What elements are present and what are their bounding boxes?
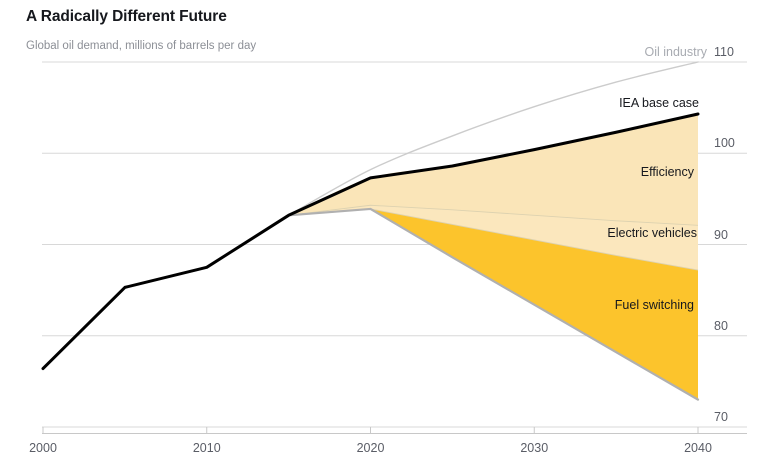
x-axis-tick-2020: 2020: [357, 441, 385, 455]
y-axis-tick-70: 70: [714, 410, 728, 424]
y-axis-tick-80: 80: [714, 319, 728, 333]
y-axis-tick-100: 100: [714, 136, 735, 150]
y-axis-tick-110: 110: [714, 45, 734, 59]
series-label-iea-base-case: IEA base case: [619, 96, 699, 110]
chart-container: A Radically Different Future Global oil …: [0, 0, 768, 470]
x-axis-tick-2000: 2000: [29, 441, 57, 455]
y-axis-tick-90: 90: [714, 228, 728, 242]
series-label-oil-industry: Oil industry: [644, 45, 707, 59]
series-label-efficiency: Efficiency: [641, 165, 694, 179]
x-axis-tick-2040: 2040: [684, 441, 712, 455]
series-label-electric-vehicles: Electric vehicles: [607, 226, 697, 240]
series-label-fuel-switching: Fuel switching: [615, 298, 694, 312]
x-axis-tick-2010: 2010: [193, 441, 221, 455]
x-axis: [42, 427, 747, 434]
x-axis-tick-2030: 2030: [520, 441, 548, 455]
